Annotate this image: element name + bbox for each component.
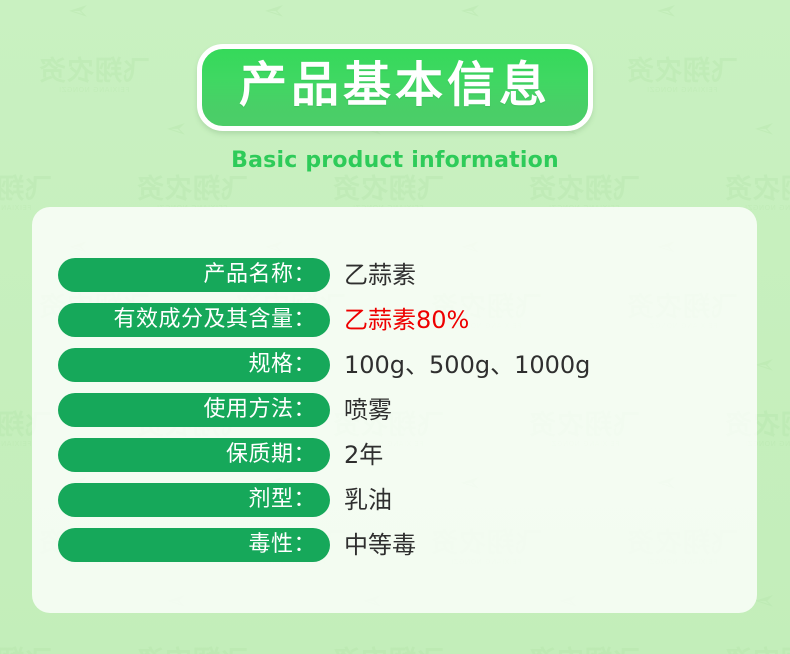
page-title: 产品基本信息 (236, 58, 554, 113)
product-info-label-pill: 剂型： (58, 483, 330, 517)
product-info-label-pill: 产品名称： (58, 258, 330, 292)
product-info-value: 2年 (344, 443, 383, 467)
product-info-row: 毒性：中等毒 (58, 528, 737, 562)
watermark-text: 飞翔农资FEIXIANG NONGZI (0, 648, 52, 654)
product-info-label: 保质期： (226, 444, 316, 466)
product-info-label: 剂型： (248, 489, 316, 511)
page-title-banner: 产品基本信息 (197, 44, 593, 131)
watermark-text: 飞翔农资FEIXIANG NONGZI (724, 648, 790, 654)
product-info-value: 中等毒 (344, 533, 416, 557)
watermark-text: 飞翔农资FEIXIANG NONGZI (0, 176, 52, 212)
product-info-card: 产品名称：乙蒜素有效成分及其含量：乙蒜素80%规格：100g、500g、1000… (32, 207, 757, 613)
product-info-table: 产品名称：乙蒜素有效成分及其含量：乙蒜素80%规格：100g、500g、1000… (58, 258, 737, 562)
product-info-label-pill: 使用方法： (58, 393, 330, 427)
product-info-label: 毒性： (248, 534, 316, 556)
watermark-text: 飞翔农资FEIXIANG NONGZI (528, 648, 640, 654)
page-header: 产品基本信息 Basic product information (0, 0, 790, 173)
watermark-text: 飞翔农资FEIXIANG NONGZI (332, 648, 444, 654)
product-info-row: 保质期：2年 (58, 438, 737, 472)
watermark-arrow-icon: ➣ (754, 586, 776, 616)
product-info-row: 使用方法：喷雾 (58, 393, 737, 427)
product-info-row: 产品名称：乙蒜素 (58, 258, 737, 292)
watermark-arrow-icon: ➣ (754, 350, 776, 380)
product-info-label-pill: 规格： (58, 348, 330, 382)
page-subtitle: Basic product information (0, 148, 790, 173)
product-info-value: 乙蒜素 (344, 263, 416, 287)
product-info-row: 有效成分及其含量：乙蒜素80% (58, 303, 737, 337)
product-info-label: 有效成分及其含量： (113, 309, 316, 331)
product-info-label: 规格： (248, 354, 316, 376)
product-info-label-pill: 保质期： (58, 438, 330, 472)
product-info-label-pill: 有效成分及其含量： (58, 303, 330, 337)
watermark-text: 飞翔农资FEIXIANG NONGZI (136, 648, 248, 654)
product-info-value: 喷雾 (344, 398, 392, 422)
product-info-row: 剂型：乳油 (58, 483, 737, 517)
product-info-label-pill: 毒性： (58, 528, 330, 562)
product-info-page: 飞翔农资FEIXIANG NONGZI➣飞翔农资FEIXIANG NONGZI➣… (0, 0, 790, 654)
product-info-label: 产品名称： (203, 264, 316, 286)
product-info-value: 100g、500g、1000g (344, 353, 590, 377)
product-info-label: 使用方法： (203, 399, 316, 421)
product-info-value: 乳油 (344, 488, 392, 512)
product-info-row: 规格：100g、500g、1000g (58, 348, 737, 382)
product-info-value: 乙蒜素80% (344, 308, 469, 332)
